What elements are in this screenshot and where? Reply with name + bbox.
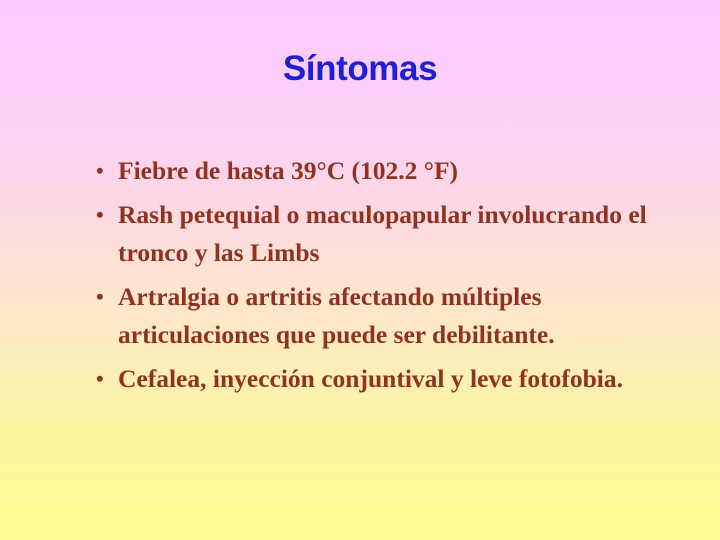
- list-item-text: Rash petequial o maculopapular involucra…: [118, 196, 692, 272]
- slide-title: Síntomas: [0, 49, 720, 89]
- list-item-text: Cefalea, inyección conjuntival y leve fo…: [118, 360, 692, 398]
- bullet-point-icon: •: [96, 196, 114, 234]
- bullet-point-icon: •: [96, 360, 114, 398]
- symptom-bullet-list: • Fiebre de hasta 39°C (102.2 °F) • Rash…: [92, 152, 692, 398]
- list-item: • Rash petequial o maculopapular involuc…: [92, 196, 692, 272]
- list-item-text: Fiebre de hasta 39°C (102.2 °F): [118, 152, 692, 190]
- list-item: • Cefalea, inyección conjuntival y leve …: [92, 360, 692, 398]
- bullet-point-icon: •: [96, 278, 114, 316]
- slide-body: • Fiebre de hasta 39°C (102.2 °F) • Rash…: [92, 152, 692, 398]
- bullet-point-icon: •: [96, 152, 114, 190]
- presentation-slide: Síntomas • Fiebre de hasta 39°C (102.2 °…: [0, 0, 720, 540]
- list-item: • Fiebre de hasta 39°C (102.2 °F): [92, 152, 692, 190]
- list-item-text: Artralgia o artritis afectando múltiples…: [118, 278, 692, 354]
- list-item: • Artralgia o artritis afectando múltipl…: [92, 278, 692, 354]
